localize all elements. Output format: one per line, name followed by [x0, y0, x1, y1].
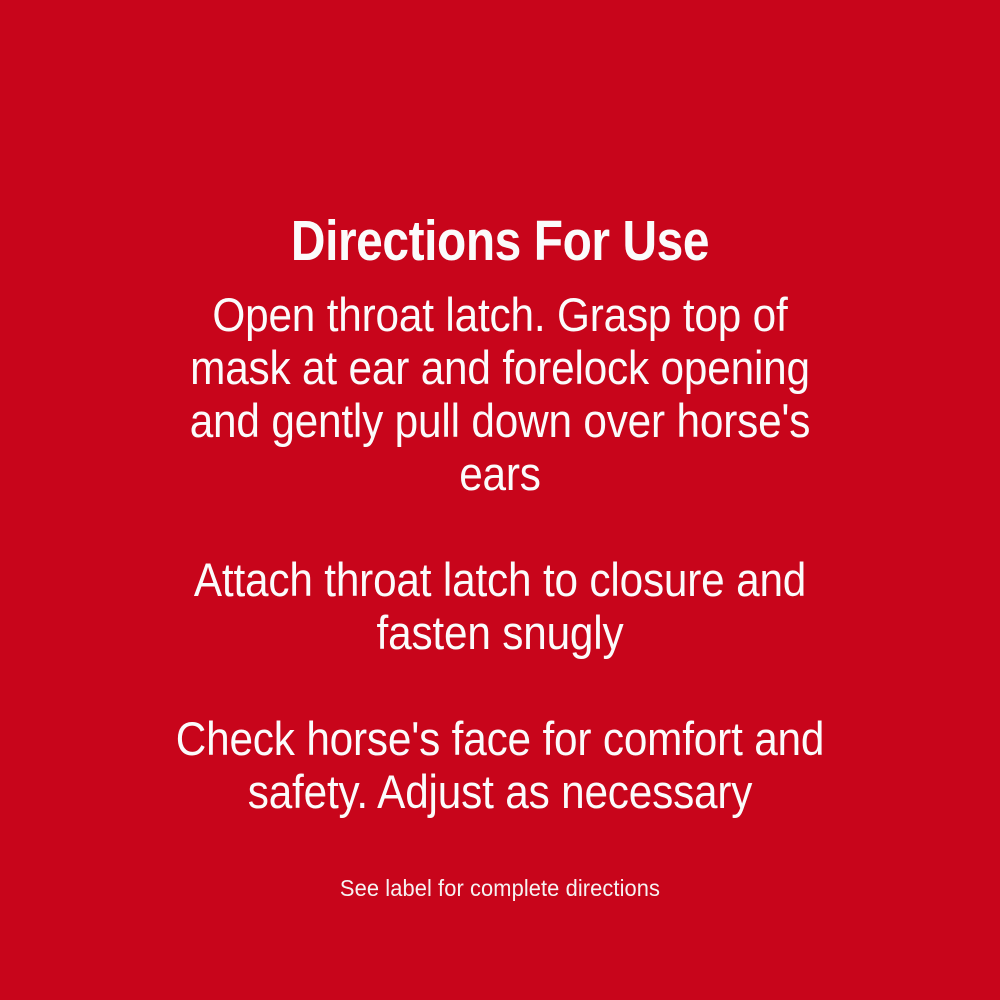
- footer-note: See label for complete directions: [25, 874, 975, 902]
- instruction-step-1: Open throat latch. Grasp top of mask at …: [158, 288, 842, 500]
- page-title: Directions For Use: [80, 210, 920, 272]
- instruction-list: Open throat latch. Grasp top of mask at …: [0, 288, 1000, 818]
- instruction-step-2: Attach throat latch to closure and faste…: [158, 553, 842, 659]
- instruction-step-3: Check horse's face for comfort and safet…: [158, 712, 842, 818]
- directions-for-use-panel: Directions For Use Open throat latch. Gr…: [0, 0, 1000, 1000]
